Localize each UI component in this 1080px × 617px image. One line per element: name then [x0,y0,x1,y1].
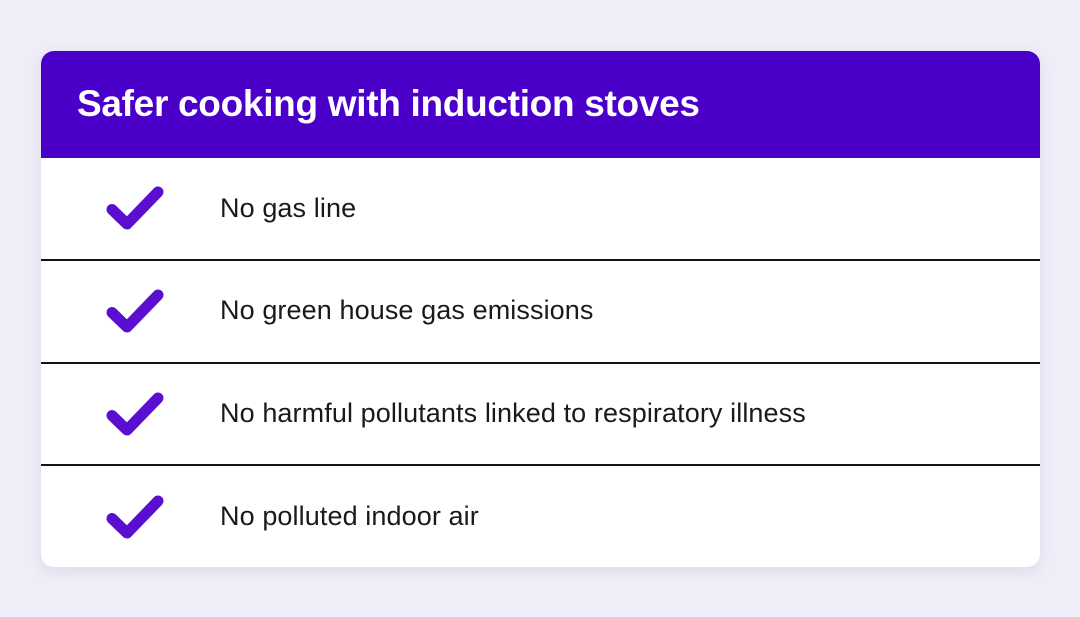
list-item-label: No green house gas emissions [220,294,594,328]
list-item: No harmful pollutants linked to respirat… [41,362,1040,465]
list-item: No gas line [41,158,1040,259]
check-icon [106,185,164,231]
card-header: Safer cooking with induction stoves [41,51,1040,158]
check-icon [106,288,164,334]
list-item-label: No polluted indoor air [220,500,479,534]
page-title: Safer cooking with induction stoves [77,84,700,125]
check-cell [41,494,220,540]
list-item-label: No gas line [220,192,356,226]
check-cell [41,391,220,437]
list-item: No green house gas emissions [41,259,1040,362]
check-icon [106,494,164,540]
check-icon [106,391,164,437]
list-item-label: No harmful pollutants linked to respirat… [220,397,806,431]
list-item: No polluted indoor air [41,464,1040,567]
check-cell [41,185,220,231]
benefits-list: No gas line No green house gas emissions… [41,158,1040,567]
page-root: Safer cooking with induction stoves No g… [0,0,1080,617]
check-cell [41,288,220,334]
benefits-card: Safer cooking with induction stoves No g… [41,51,1040,567]
